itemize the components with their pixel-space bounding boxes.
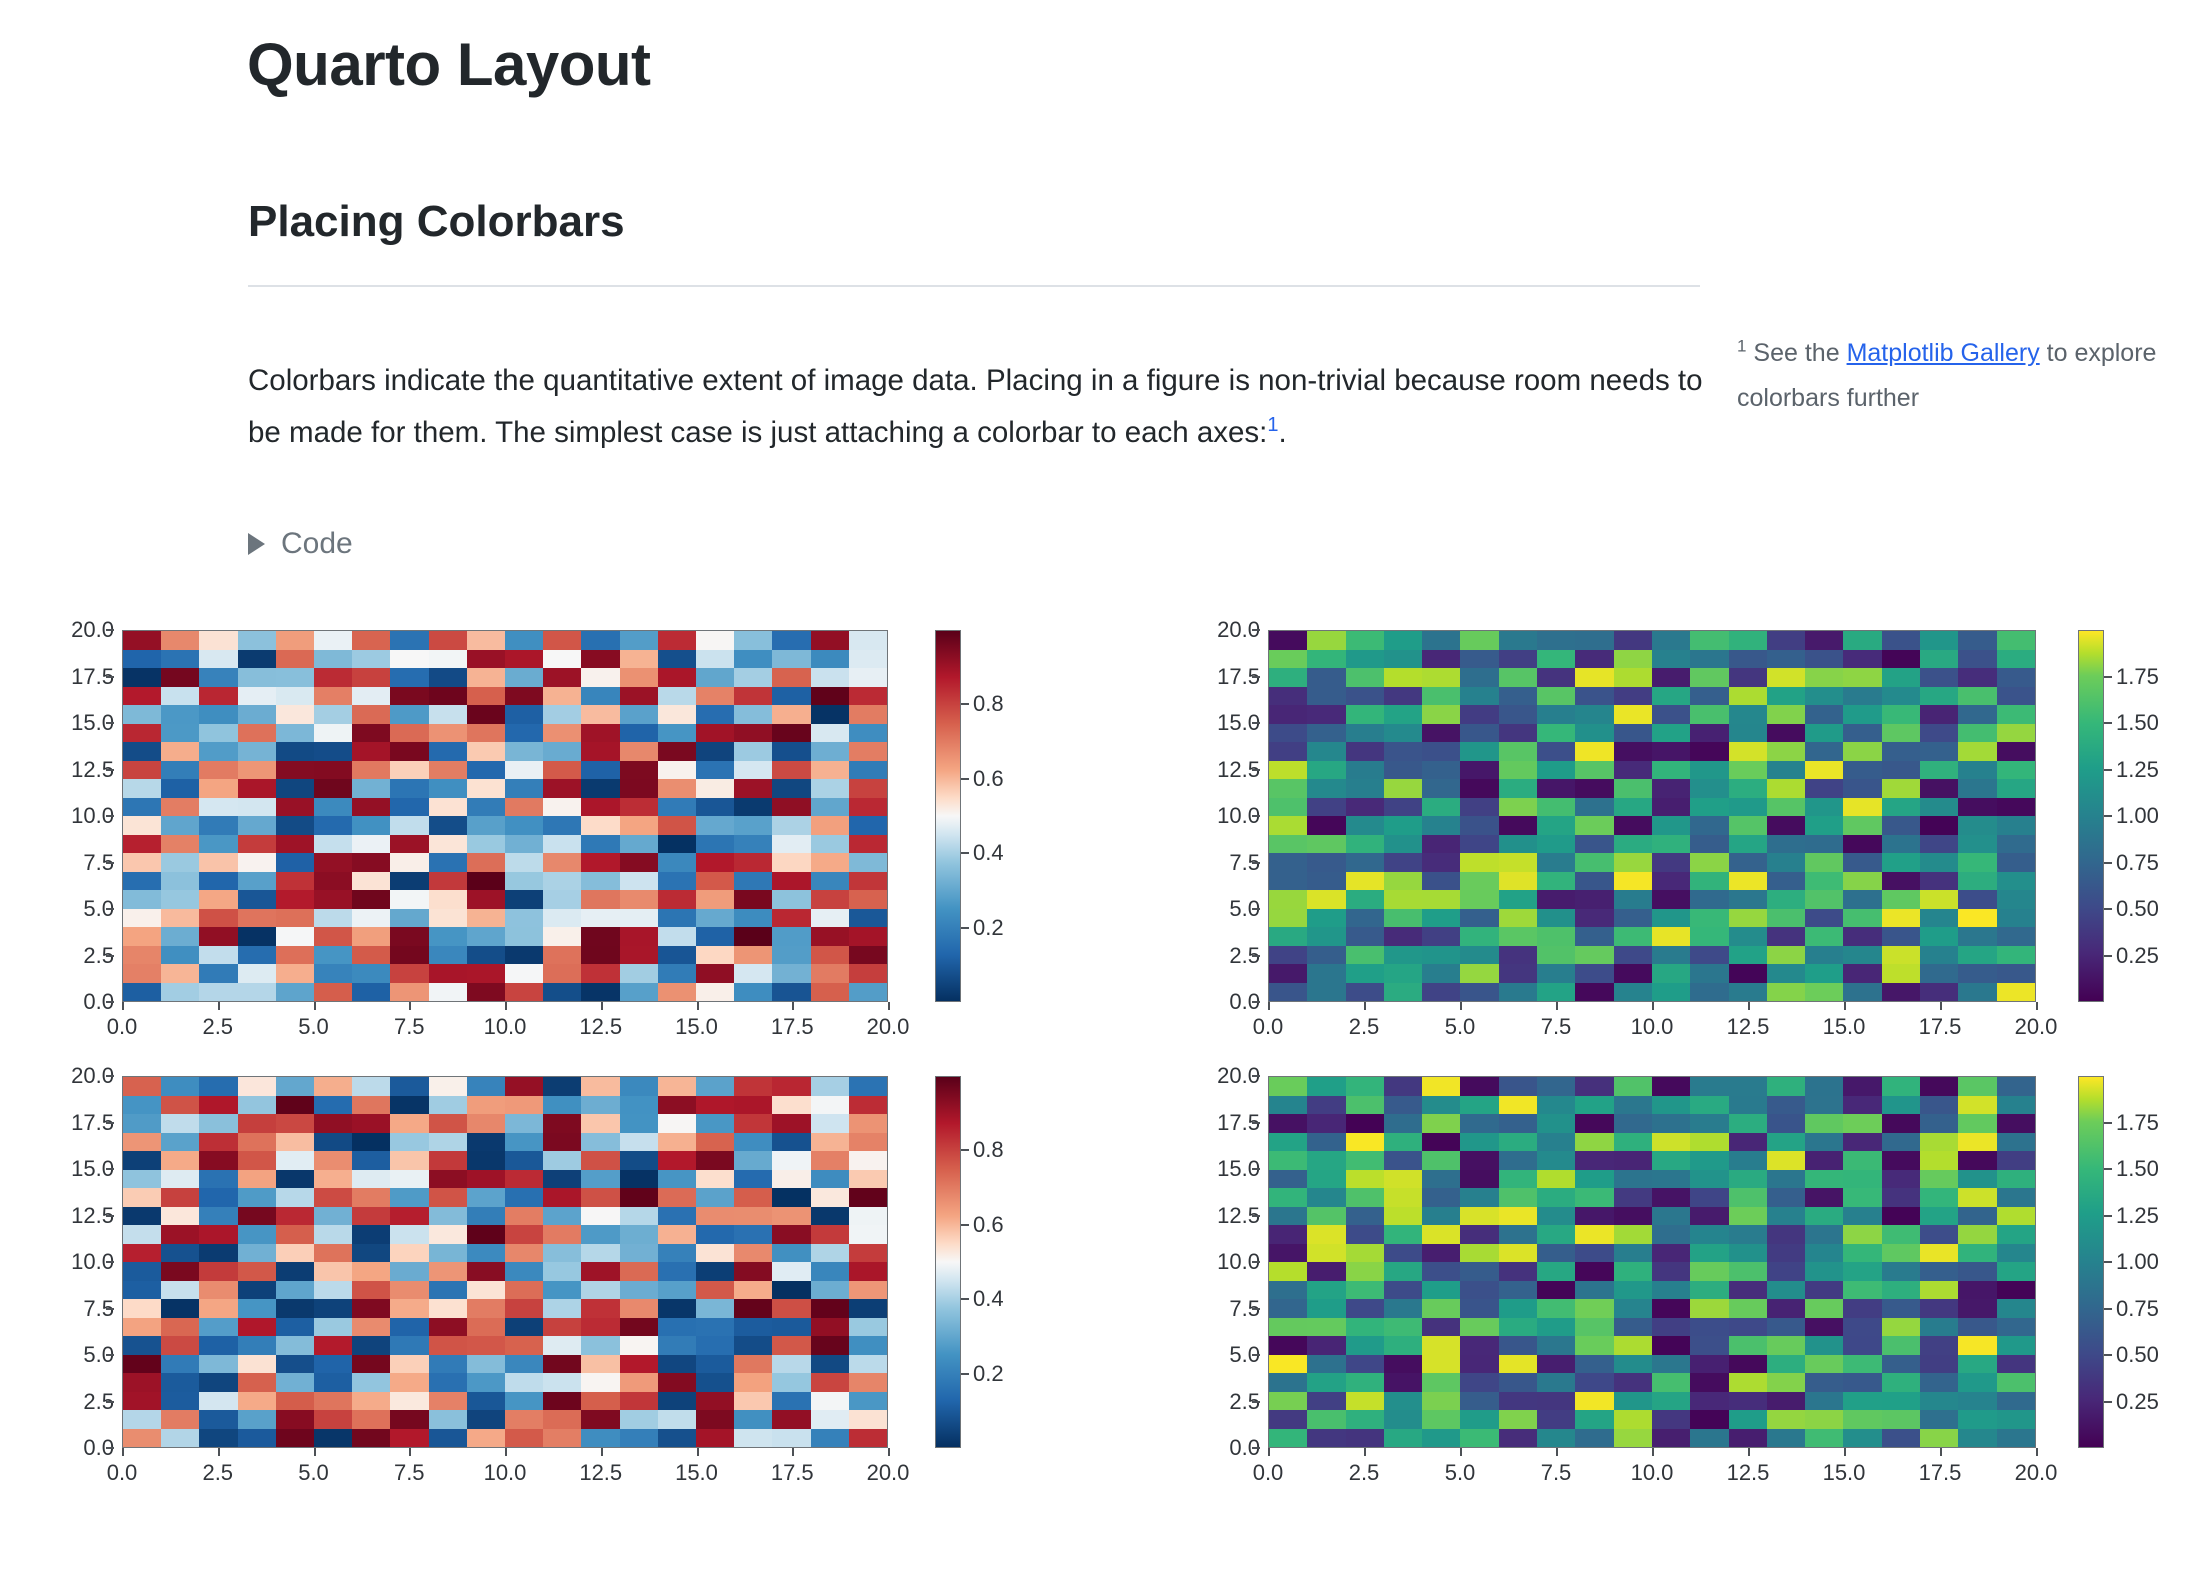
heatmap-cell bbox=[696, 872, 734, 891]
heatmap-cell bbox=[811, 798, 849, 817]
heatmap-cell bbox=[1767, 798, 1805, 817]
heatmap-cell bbox=[581, 742, 619, 761]
heatmap-cell bbox=[390, 927, 428, 946]
heatmap-cell bbox=[1269, 1188, 1307, 1207]
heatmap-cell bbox=[1729, 1281, 1767, 1300]
heatmap-cell bbox=[199, 816, 237, 835]
heatmap-cell bbox=[314, 1429, 352, 1448]
heatmap-cell bbox=[199, 779, 237, 798]
heatmap-cell bbox=[696, 909, 734, 928]
heatmap-cell bbox=[1843, 1114, 1881, 1133]
heatmap-cell bbox=[1729, 983, 1767, 1002]
colorbar-tick-mark bbox=[961, 852, 969, 854]
heatmap-cell bbox=[1307, 1410, 1345, 1429]
heatmap-cell bbox=[238, 1114, 276, 1133]
heatmap-cell bbox=[543, 909, 581, 928]
heatmap-cell bbox=[1843, 964, 1881, 983]
x-axis-tick-label: 15.0 bbox=[675, 1460, 718, 1486]
heatmap-cell bbox=[1690, 668, 1728, 687]
heatmap-cell bbox=[581, 983, 619, 1002]
heatmap-cell bbox=[1537, 1188, 1575, 1207]
heatmap-cell bbox=[1307, 724, 1345, 743]
heatmap-cell bbox=[161, 1225, 199, 1244]
heatmap-cell bbox=[734, 650, 772, 669]
heatmap-cell bbox=[1575, 1114, 1613, 1133]
heatmap-cell bbox=[352, 1410, 390, 1429]
heatmap-cell bbox=[1920, 983, 1958, 1002]
heatmap-cell bbox=[772, 742, 810, 761]
heatmap-cell bbox=[505, 1225, 543, 1244]
heatmap-cell bbox=[1537, 1133, 1575, 1152]
heatmap-cell bbox=[1652, 1318, 1690, 1337]
heatmap-cell bbox=[199, 1170, 237, 1189]
heatmap-cell bbox=[199, 1373, 237, 1392]
heatmap-cell bbox=[1614, 724, 1652, 743]
heatmap-cell bbox=[1422, 1114, 1460, 1133]
heatmap-cell bbox=[1729, 761, 1767, 780]
heatmap-cell bbox=[581, 1299, 619, 1318]
heatmap-cell bbox=[734, 964, 772, 983]
heatmap-cell bbox=[1384, 835, 1422, 854]
heatmap-cell bbox=[1882, 1096, 1920, 1115]
heatmap-cell bbox=[161, 1281, 199, 1300]
heatmap-cell bbox=[1422, 853, 1460, 872]
heatmap-cell bbox=[314, 1299, 352, 1318]
heatmap-cell bbox=[276, 687, 314, 706]
heatmap-cell bbox=[199, 1392, 237, 1411]
heatmap-cell bbox=[581, 1114, 619, 1133]
heatmap-cell bbox=[1997, 1151, 2035, 1170]
heatmap-cell bbox=[1346, 1096, 1384, 1115]
heatmap-cell bbox=[390, 946, 428, 965]
heatmap-cell bbox=[352, 890, 390, 909]
heatmap-cell bbox=[1882, 909, 1920, 928]
heatmap-cell bbox=[696, 1133, 734, 1152]
heatmap-cell bbox=[314, 983, 352, 1002]
heatmap-cell bbox=[1575, 1299, 1613, 1318]
heatmap-cell bbox=[1729, 835, 1767, 854]
heatmap-cell bbox=[352, 983, 390, 1002]
heatmap-cell bbox=[620, 1429, 658, 1448]
heatmap-cell bbox=[1652, 1392, 1690, 1411]
heatmap-cell bbox=[1384, 798, 1422, 817]
heatmap-cell bbox=[1958, 983, 1996, 1002]
heatmap-cell bbox=[772, 1299, 810, 1318]
heatmap-cell bbox=[1422, 1299, 1460, 1318]
heatmap-cell bbox=[238, 742, 276, 761]
heatmap-cell bbox=[390, 798, 428, 817]
heatmap-cell bbox=[772, 631, 810, 650]
x-axis-tick-mark bbox=[792, 1448, 794, 1456]
heatmap-cell bbox=[429, 650, 467, 669]
heatmap-cell bbox=[849, 1133, 887, 1152]
x-axis-tick-mark bbox=[1844, 1448, 1846, 1456]
heatmap-cell bbox=[1767, 761, 1805, 780]
heatmap-cell bbox=[123, 1096, 161, 1115]
heatmap-cell bbox=[238, 1429, 276, 1448]
heatmap-cell bbox=[1307, 705, 1345, 724]
heatmap-cell bbox=[1690, 1096, 1728, 1115]
heatmap-cell bbox=[1537, 650, 1575, 669]
x-axis-tick-label: 12.5 bbox=[1727, 1014, 1770, 1040]
heatmap-cell bbox=[505, 872, 543, 891]
y-axis-tick-mark bbox=[1252, 676, 1260, 678]
heatmap-cell bbox=[696, 1392, 734, 1411]
heatmap-cell bbox=[1920, 1410, 1958, 1429]
heatmap-cell bbox=[1499, 816, 1537, 835]
heatmap-cell bbox=[1997, 1114, 2035, 1133]
heatmap-cell bbox=[620, 1336, 658, 1355]
heatmap-cell bbox=[1843, 835, 1881, 854]
colorbar-tick-label: 0.50 bbox=[2116, 1342, 2159, 1368]
heatmap-cell bbox=[276, 1077, 314, 1096]
heatmap-cell bbox=[1767, 816, 1805, 835]
heatmap-cell bbox=[1422, 650, 1460, 669]
heatmap-cell bbox=[429, 798, 467, 817]
heatmap-cell bbox=[1614, 909, 1652, 928]
heatmap-cell bbox=[1843, 927, 1881, 946]
triangle-right-icon bbox=[248, 533, 265, 555]
y-axis-tick-mark bbox=[106, 908, 114, 910]
heatmap-cell bbox=[390, 890, 428, 909]
heatmap-cell bbox=[1767, 1096, 1805, 1115]
footnote-reference-link[interactable]: 1 bbox=[1267, 414, 1278, 436]
heatmap-cell bbox=[1384, 724, 1422, 743]
x-axis-tick-mark bbox=[2036, 1002, 2038, 1010]
heatmap-cell bbox=[849, 946, 887, 965]
heatmap-cell bbox=[1499, 964, 1537, 983]
heatmap-cell bbox=[1614, 705, 1652, 724]
heatmap-cell bbox=[581, 1355, 619, 1374]
heatmap-cell bbox=[1422, 631, 1460, 650]
heatmap-cell bbox=[467, 668, 505, 687]
heatmap-cell bbox=[1652, 872, 1690, 891]
colorbar bbox=[2078, 1076, 2104, 1448]
heatmap-cell bbox=[1920, 1281, 1958, 1300]
heatmap-cell bbox=[1652, 705, 1690, 724]
heatmap-cell bbox=[1997, 687, 2035, 706]
heatmap-cell bbox=[1805, 1188, 1843, 1207]
heatmap-cell bbox=[581, 927, 619, 946]
heatmap-cell bbox=[1997, 1170, 2035, 1189]
heatmap-cell bbox=[1690, 1262, 1728, 1281]
heatmap-cell bbox=[1843, 872, 1881, 891]
heatmap-cell bbox=[161, 798, 199, 817]
heatmap-cell bbox=[772, 779, 810, 798]
x-axis-tick-mark bbox=[1748, 1002, 1750, 1010]
heatmap-cell bbox=[1690, 650, 1728, 669]
heatmap-cell bbox=[696, 1188, 734, 1207]
heatmap-cell bbox=[1958, 742, 1996, 761]
heatmap-cell bbox=[1460, 631, 1498, 650]
heatmap-cell bbox=[696, 1281, 734, 1300]
heatmap-cell bbox=[734, 1262, 772, 1281]
heatmap-cell bbox=[199, 724, 237, 743]
heatmap-cell bbox=[543, 1318, 581, 1337]
heatmap-cell bbox=[772, 1318, 810, 1337]
heatmap-cell bbox=[1805, 1133, 1843, 1152]
heatmap-cell bbox=[467, 983, 505, 1002]
heatmap-cell bbox=[1307, 1077, 1345, 1096]
heatmap-cell bbox=[429, 853, 467, 872]
heatmap-cell bbox=[620, 1299, 658, 1318]
heatmap-cell bbox=[276, 798, 314, 817]
heatmap-cell bbox=[1307, 1207, 1345, 1226]
heatmap-cell bbox=[352, 1429, 390, 1448]
heatmap-cell bbox=[161, 1429, 199, 1448]
heatmap-cell bbox=[811, 853, 849, 872]
heatmap-cell bbox=[1460, 1299, 1498, 1318]
heatmap-cell bbox=[390, 668, 428, 687]
heatmap-cell bbox=[276, 927, 314, 946]
heatmap-cell bbox=[276, 650, 314, 669]
y-axis: 0.02.55.07.510.012.515.017.520.0 bbox=[32, 630, 114, 1002]
heatmap-cell bbox=[161, 1373, 199, 1392]
matplotlib-gallery-link[interactable]: Matplotlib Gallery bbox=[1847, 339, 2040, 367]
colorbar-tick-mark bbox=[961, 1373, 969, 1375]
heatmap-cell bbox=[429, 742, 467, 761]
heatmap-cell bbox=[1575, 1318, 1613, 1337]
heatmap-cell bbox=[314, 816, 352, 835]
heatmap-cell bbox=[1690, 1151, 1728, 1170]
heatmap-cell bbox=[390, 761, 428, 780]
heatmap-cell bbox=[1652, 1373, 1690, 1392]
heatmap-cell bbox=[696, 816, 734, 835]
heatmap-cell bbox=[199, 1429, 237, 1448]
y-axis-tick-mark bbox=[1252, 1122, 1260, 1124]
heatmap-cell bbox=[123, 909, 161, 928]
heatmap-cell bbox=[581, 1225, 619, 1244]
heatmap-cell bbox=[811, 668, 849, 687]
heatmap-cell bbox=[505, 983, 543, 1002]
heatmap-cell bbox=[352, 927, 390, 946]
y-axis-tick-mark bbox=[106, 862, 114, 864]
heatmap-cell bbox=[658, 1244, 696, 1263]
colorbar-tick-label: 1.25 bbox=[2116, 1203, 2159, 1229]
heatmap-cell bbox=[581, 1151, 619, 1170]
heatmap-cell bbox=[1997, 1336, 2035, 1355]
x-axis-tick-label: 2.5 bbox=[1349, 1014, 1380, 1040]
heatmap-cell bbox=[1767, 1207, 1805, 1226]
heatmap-cell bbox=[1805, 705, 1843, 724]
heatmap-cell bbox=[543, 761, 581, 780]
heatmap-cell bbox=[1920, 1392, 1958, 1411]
colorbar-tick-mark bbox=[2104, 908, 2112, 910]
colorbar-tick-label: 1.50 bbox=[2116, 710, 2159, 736]
heatmap-cell bbox=[352, 779, 390, 798]
heatmap-cell bbox=[811, 1262, 849, 1281]
heatmap-cell bbox=[658, 724, 696, 743]
heatmap-cell bbox=[581, 724, 619, 743]
heatmap-cell bbox=[543, 1429, 581, 1448]
heatmap-cell bbox=[238, 1096, 276, 1115]
heatmap-cell bbox=[1614, 1281, 1652, 1300]
heatmap-cell bbox=[1843, 1392, 1881, 1411]
heatmap-image bbox=[122, 630, 888, 1002]
heatmap-cell bbox=[1575, 724, 1613, 743]
heatmap-cell bbox=[1843, 1188, 1881, 1207]
heatmap-cell bbox=[1537, 668, 1575, 687]
colorbar-tick-mark bbox=[2104, 722, 2112, 724]
x-axis-tick-mark bbox=[1940, 1448, 1942, 1456]
heatmap-cell bbox=[1537, 816, 1575, 835]
heatmap-cell bbox=[1690, 1392, 1728, 1411]
heatmap-cell bbox=[1958, 1336, 1996, 1355]
heatmap-cell bbox=[811, 890, 849, 909]
heatmap-cell bbox=[1384, 1096, 1422, 1115]
heatmap-cell bbox=[696, 1429, 734, 1448]
heatmap-cell bbox=[1499, 687, 1537, 706]
heatmap-cell bbox=[238, 983, 276, 1002]
heatmap-cell bbox=[581, 890, 619, 909]
heatmap-cell bbox=[1729, 668, 1767, 687]
heatmap-cell bbox=[658, 835, 696, 854]
heatmap-cell bbox=[1614, 1392, 1652, 1411]
heatmap-cell bbox=[505, 1151, 543, 1170]
x-axis-tick-label: 0.0 bbox=[107, 1014, 138, 1040]
heatmap-cell bbox=[314, 946, 352, 965]
heatmap-cell bbox=[1997, 1429, 2035, 1448]
heatmap-cell bbox=[1422, 1410, 1460, 1429]
heatmap-cell bbox=[238, 1225, 276, 1244]
heatmap-cell bbox=[467, 909, 505, 928]
x-axis-tick-mark bbox=[1748, 1448, 1750, 1456]
heatmap-cell bbox=[467, 835, 505, 854]
heatmap-cell bbox=[696, 1207, 734, 1226]
heatmap-cell bbox=[276, 983, 314, 1002]
heatmap-cell bbox=[696, 890, 734, 909]
heatmap-cell bbox=[1269, 983, 1307, 1002]
heatmap-cell bbox=[772, 1429, 810, 1448]
heatmap-cell bbox=[1652, 1429, 1690, 1448]
heatmap-cell bbox=[1997, 1373, 2035, 1392]
heatmap-cell bbox=[1346, 798, 1384, 817]
colorbar-tick-label: 1.00 bbox=[2116, 1249, 2159, 1275]
heatmap-cell bbox=[1614, 687, 1652, 706]
heatmap-cell bbox=[1882, 853, 1920, 872]
heatmap-cell bbox=[620, 1373, 658, 1392]
heatmap-cell bbox=[1346, 668, 1384, 687]
heatmap-cell bbox=[620, 946, 658, 965]
heatmap-cell bbox=[1882, 1392, 1920, 1411]
y-axis-tick-mark bbox=[1252, 1261, 1260, 1263]
heatmap-cell bbox=[1384, 705, 1422, 724]
heatmap-cell bbox=[581, 1281, 619, 1300]
heatmap-cell bbox=[390, 1373, 428, 1392]
heatmap-cell bbox=[696, 650, 734, 669]
heatmap-cell bbox=[1614, 1410, 1652, 1429]
heatmap-cell bbox=[1614, 946, 1652, 965]
heatmap-cell bbox=[276, 1114, 314, 1133]
heatmap-cell bbox=[1307, 1336, 1345, 1355]
heatmap-cell bbox=[1537, 1114, 1575, 1133]
heatmap-cell bbox=[390, 1262, 428, 1281]
heatmap-cell bbox=[1422, 835, 1460, 854]
heatmap-cell bbox=[1269, 1373, 1307, 1392]
heatmap-cell bbox=[314, 779, 352, 798]
heatmap-cell bbox=[1460, 1133, 1498, 1152]
heatmap-cell bbox=[1729, 742, 1767, 761]
heatmap-cell bbox=[429, 1336, 467, 1355]
heatmap-cell bbox=[1882, 1207, 1920, 1226]
x-axis-tick-label: 2.5 bbox=[1349, 1460, 1380, 1486]
heatmap-cell bbox=[1422, 890, 1460, 909]
heatmap-cell bbox=[658, 1151, 696, 1170]
heatmap-cell bbox=[314, 1188, 352, 1207]
colorbar-tick-label: 0.4 bbox=[973, 1286, 1004, 1312]
heatmap-cell bbox=[1882, 1373, 1920, 1392]
heatmap-cell bbox=[352, 909, 390, 928]
heatmap-cell bbox=[1997, 1188, 2035, 1207]
y-axis-tick-mark bbox=[1252, 1215, 1260, 1217]
heatmap-cell bbox=[123, 742, 161, 761]
heatmap-cell bbox=[1652, 964, 1690, 983]
heatmap-cell bbox=[467, 1299, 505, 1318]
heatmap-cell bbox=[1805, 631, 1843, 650]
heatmap-cell bbox=[1499, 798, 1537, 817]
heatmap-cell bbox=[1269, 1151, 1307, 1170]
heatmap-cell bbox=[1920, 1114, 1958, 1133]
heatmap-cell bbox=[429, 1318, 467, 1337]
heatmap-cell bbox=[1767, 724, 1805, 743]
y-axis-tick-mark bbox=[1252, 862, 1260, 864]
heatmap-cell bbox=[1575, 927, 1613, 946]
heatmap-cell bbox=[1805, 1336, 1843, 1355]
heatmap-cell bbox=[1997, 1318, 2035, 1337]
heatmap-cell bbox=[1269, 853, 1307, 872]
heatmap-cell bbox=[390, 1151, 428, 1170]
heatmap-cell bbox=[1729, 1133, 1767, 1152]
heatmap-cell bbox=[620, 890, 658, 909]
heatmap-cell bbox=[429, 1299, 467, 1318]
heatmap-cell bbox=[1575, 835, 1613, 854]
heatmap-cell bbox=[772, 927, 810, 946]
heatmap-cell bbox=[1422, 1207, 1460, 1226]
y-axis-tick-mark bbox=[1252, 769, 1260, 771]
code-fold-toggle[interactable]: Code bbox=[248, 527, 353, 561]
x-axis-tick-label: 15.0 bbox=[1823, 1014, 1866, 1040]
heatmap-cell bbox=[1882, 1299, 1920, 1318]
heatmap-cell bbox=[390, 872, 428, 891]
heatmap-cell bbox=[581, 816, 619, 835]
heatmap-cell bbox=[1690, 724, 1728, 743]
heatmap-cell bbox=[1346, 724, 1384, 743]
heatmap-cell bbox=[1690, 1244, 1728, 1263]
heatmap-cell bbox=[1997, 909, 2035, 928]
heatmap-cell bbox=[620, 816, 658, 835]
heatmap-cell bbox=[1767, 1318, 1805, 1337]
heatmap-cell bbox=[1346, 1318, 1384, 1337]
heatmap-cell bbox=[123, 1281, 161, 1300]
heatmap-cell bbox=[1767, 631, 1805, 650]
heatmap-cell bbox=[314, 853, 352, 872]
x-axis-tick-label: 17.5 bbox=[1919, 1460, 1962, 1486]
heatmap-cell bbox=[1384, 1281, 1422, 1300]
heatmap-cell bbox=[276, 835, 314, 854]
heatmap-cell bbox=[390, 1355, 428, 1374]
heatmap-cell bbox=[581, 798, 619, 817]
heatmap-cell bbox=[620, 687, 658, 706]
heatmap-cell bbox=[772, 909, 810, 928]
heatmap-cell bbox=[314, 1262, 352, 1281]
heatmap-cell bbox=[161, 1207, 199, 1226]
heatmap-cell bbox=[429, 964, 467, 983]
heatmap-cell bbox=[1346, 779, 1384, 798]
heatmap-cell bbox=[1614, 853, 1652, 872]
heatmap-cell bbox=[1575, 1410, 1613, 1429]
heatmap-cell bbox=[199, 798, 237, 817]
heatmap-cell bbox=[696, 1151, 734, 1170]
